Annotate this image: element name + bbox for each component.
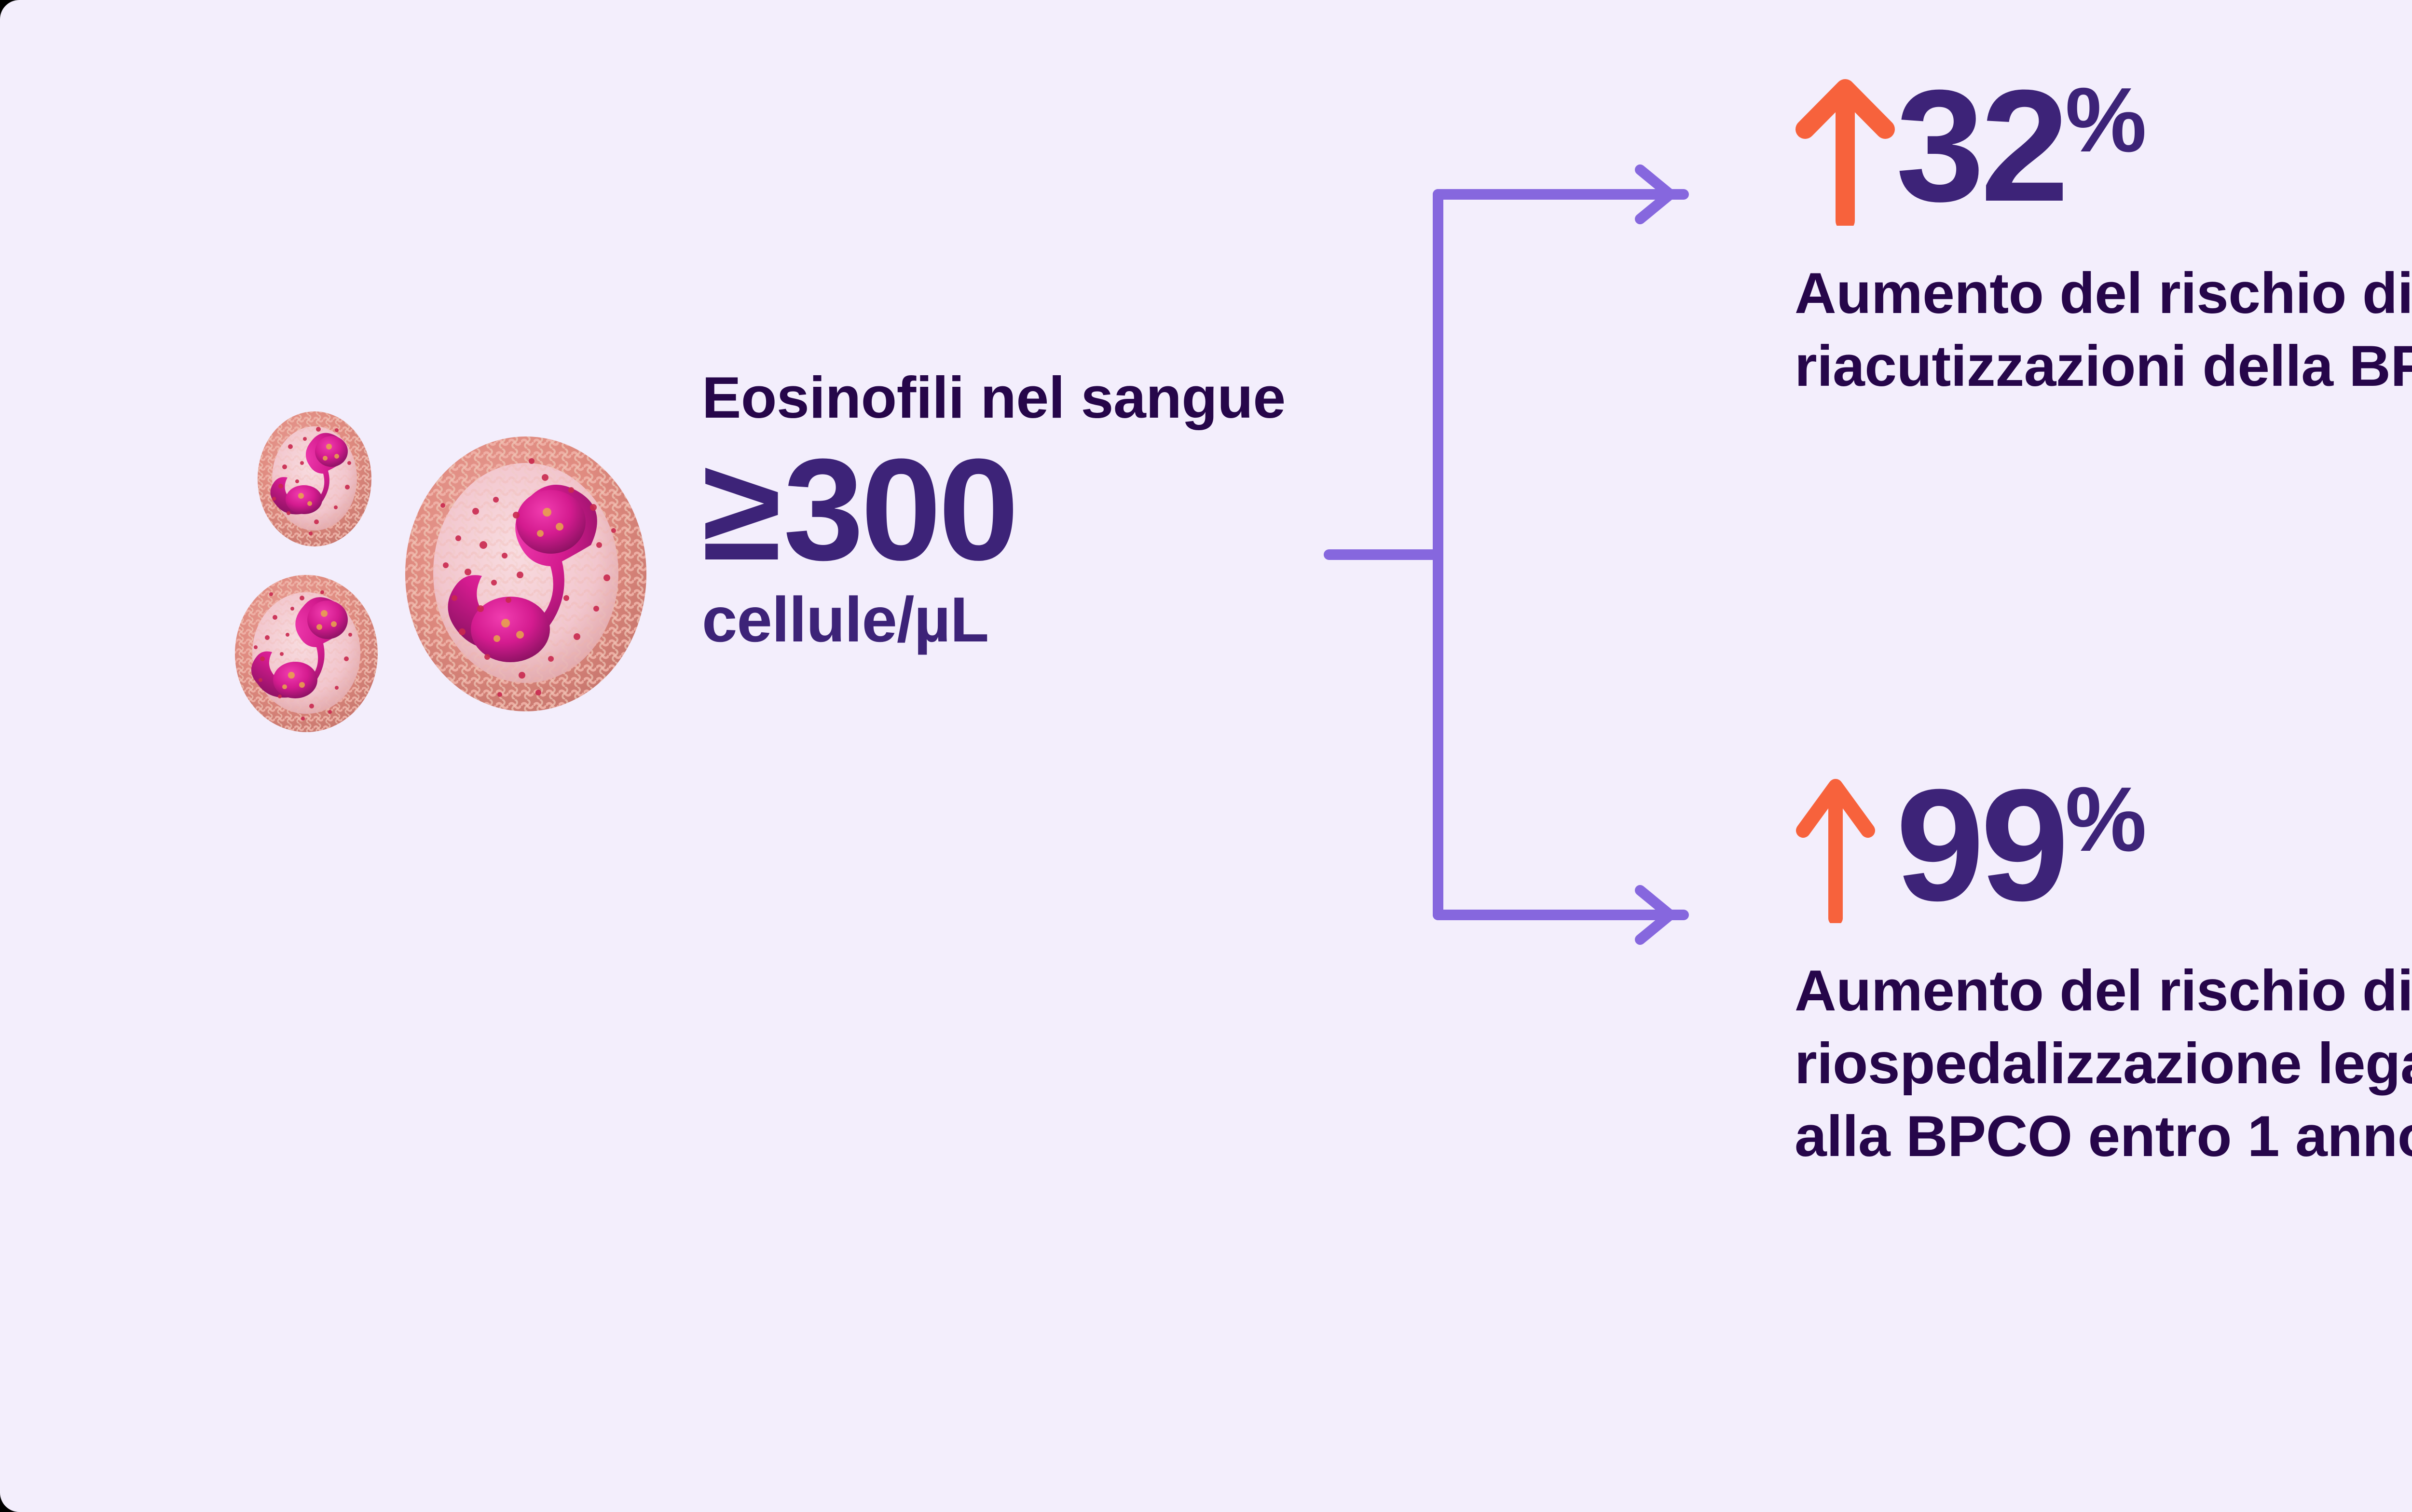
stat-block-exacerbations: 32 % Aumento del rischio di riacutizzazi…	[1795, 68, 2412, 403]
stat-block-rehospitalization: 99 % Aumento del rischio di riospedalizz…	[1795, 767, 2412, 1173]
arrow-up-icon	[1795, 71, 1896, 228]
infographic-card: Eosinofili nel sangue ≥300 cellule/µL	[0, 0, 2412, 1512]
eosinophil-value: ≥300	[702, 437, 1305, 582]
eosinophil-cell-small-top	[256, 410, 376, 550]
eosinophil-unit: cellule/µL	[702, 586, 1305, 654]
eosinophil-threshold-block: Eosinofili nel sangue ≥300 cellule/µL	[702, 367, 1305, 654]
percent-symbol: %	[2065, 68, 2145, 173]
eosinophil-cells-illustration	[207, 386, 651, 733]
arrow-up-icon	[1795, 774, 1877, 926]
stat-value: 99	[1896, 767, 2065, 923]
stat-value: 32	[1896, 68, 2065, 223]
stat-headline: 99 %	[1795, 767, 2412, 926]
greater-or-equal-icon: ≥	[702, 428, 777, 590]
eosinophil-heading: Eosinofili nel sangue	[702, 367, 1305, 428]
stat-headline: 32 %	[1795, 68, 2412, 228]
percent-symbol: %	[2065, 767, 2145, 872]
eosinophil-cell-large	[400, 429, 651, 723]
eosinophil-number: 300	[783, 428, 1016, 590]
stat-description-text: Aumento del rischio di riospedalizzazion…	[1795, 958, 2412, 1169]
branching-arrow-connector	[1302, 164, 1737, 945]
stat-description: Aumento del rischio di riacutizzazioni d…	[1795, 257, 2412, 403]
stat-description: Aumento del rischio di riospedalizzazion…	[1795, 954, 2412, 1173]
stat-description-text: Aumento del rischio di riacutizzazioni d…	[1795, 261, 2412, 398]
eosinophil-cell-small-bottom	[234, 574, 379, 733]
